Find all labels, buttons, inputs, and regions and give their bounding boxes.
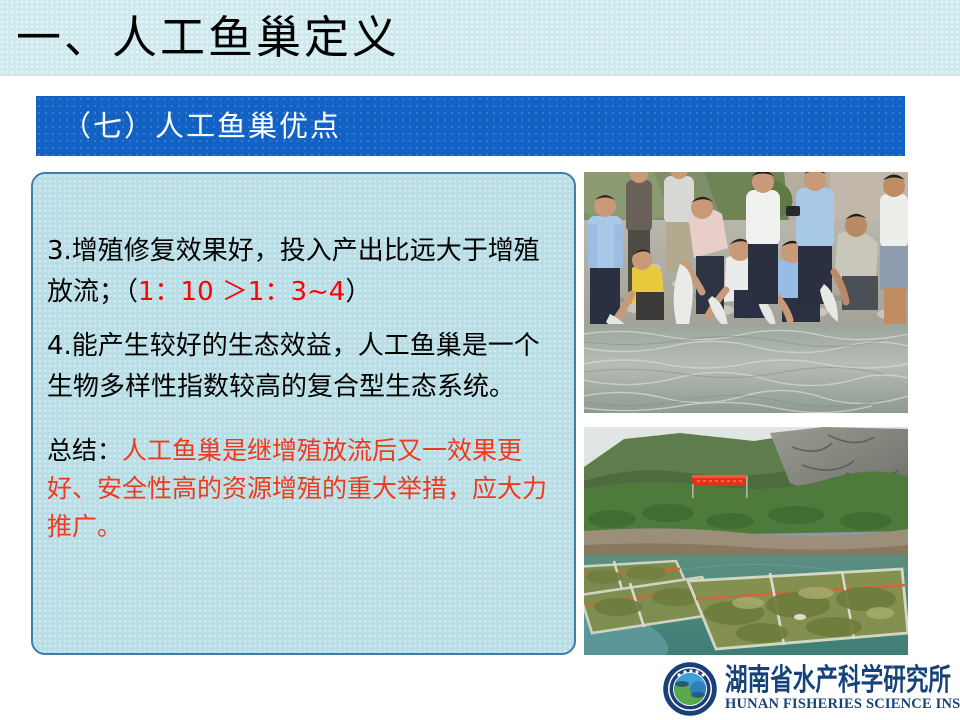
floating-fish-nest-illustration bbox=[584, 427, 908, 655]
fish-release-ceremony-photo bbox=[584, 172, 908, 413]
summary-text: 人工鱼巢是继增殖放流后又一效果更好、安全性高的资源增殖的重大举措，应大力推广。 bbox=[47, 436, 547, 541]
ratio-value: 1：10 ＞1：3~4 bbox=[138, 277, 345, 307]
summary-paragraph: 总结：人工鱼巢是继增殖放流后又一效果更好、安全性高的资源增殖的重大举措，应大力推… bbox=[47, 432, 560, 546]
fish-release-ceremony-illustration bbox=[584, 172, 908, 413]
institute-seal-icon bbox=[663, 662, 717, 716]
institute-name-chinese-glyphs: 湖南省水产科学研究所 bbox=[725, 660, 953, 698]
slide-header-band: 一、人工鱼巢定义 bbox=[0, 0, 960, 76]
fish-seal-emblem-icon bbox=[663, 662, 717, 716]
slide-canvas: 一、人工鱼巢定义 （七）人工鱼巢优点 3.增殖修复效果好，投入产出比远大于增殖放… bbox=[0, 0, 960, 720]
page-title: 一、人工鱼巢定义 bbox=[16, 4, 400, 72]
floating-fish-nest-photo bbox=[584, 427, 908, 655]
institute-name-chinese: 湖南省水产科学研究所 bbox=[725, 660, 953, 698]
section-heading-label: （七）人工鱼巢优点 bbox=[62, 96, 341, 156]
institute-logo: 湖南省水产科学研究所 HUNAN FISHERIES SCIENCE INSTI… bbox=[663, 660, 953, 718]
summary-label: 总结： bbox=[47, 436, 122, 465]
svg-text:湖南省水产科学研究所: 湖南省水产科学研究所 bbox=[725, 663, 951, 698]
bullet-point-4: 4.能产生较好的生态效益，人工鱼巢是一个生物多样性指数较高的复合型生态系统。 bbox=[47, 326, 560, 408]
bullet-point-3: 3.增殖修复效果好，投入产出比远大于增殖放流；（1：10 ＞1：3~4） bbox=[47, 231, 560, 313]
bullet-point-3-tail: ） bbox=[345, 277, 371, 307]
institute-name-english: HUNAN FISHERIES SCIENCE INSTITUTE bbox=[725, 696, 960, 713]
section-heading-bar: （七）人工鱼巢优点 bbox=[36, 96, 905, 156]
content-panel: 3.增殖修复效果好，投入产出比远大于增殖放流；（1：10 ＞1：3~4） 4.能… bbox=[31, 172, 576, 655]
